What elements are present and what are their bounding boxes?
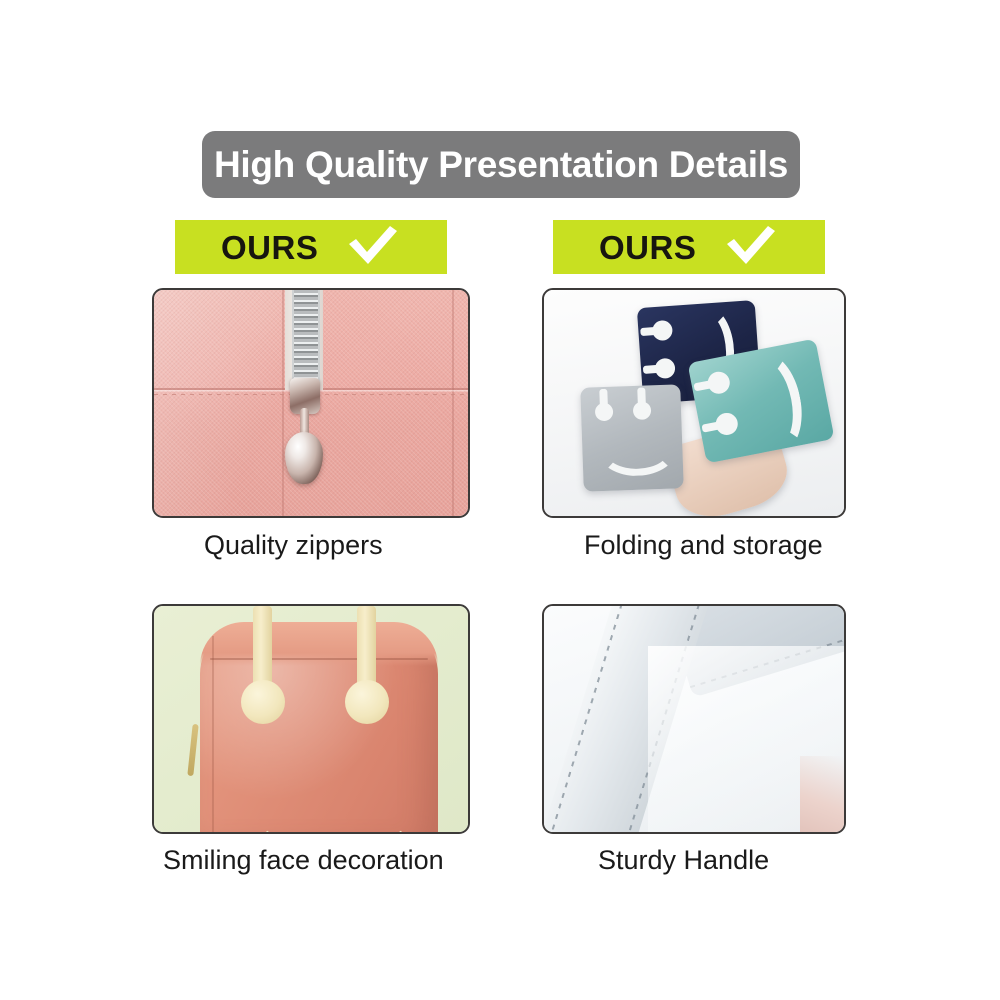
infographic-page: High Quality Presentation Details OURS O… (0, 0, 1000, 1000)
check-icon (724, 224, 778, 271)
caption-sturdy-handle: Sturdy Handle (598, 847, 769, 874)
ours-badge-left-label: OURS (221, 231, 318, 264)
feature-photo-sturdy-handle (542, 604, 846, 834)
caption-smiling-face: Smiling face decoration (163, 847, 444, 874)
check-icon (346, 224, 400, 271)
page-title: High Quality Presentation Details (214, 146, 788, 183)
folded-bag-gray (580, 384, 684, 491)
smiley-eye (345, 680, 389, 724)
ours-badge-left: OURS (175, 220, 447, 274)
feature-photo-folding-storage (542, 288, 846, 518)
ours-badge-right-label: OURS (599, 231, 696, 264)
zipper-teeth (292, 290, 320, 388)
caption-quality-zippers: Quality zippers (204, 532, 383, 559)
folded-bags-image (544, 290, 844, 516)
feature-photo-quality-zippers (152, 288, 470, 518)
ours-badge-right: OURS (553, 220, 825, 274)
pink-bag-zipper-image (154, 290, 468, 516)
feature-photo-smiling-face (152, 604, 470, 834)
handle-closeup-image (544, 606, 844, 832)
smiley-bag-image (154, 606, 468, 832)
smiley-eye (241, 680, 285, 724)
page-title-banner: High Quality Presentation Details (202, 131, 800, 198)
caption-folding-storage: Folding and storage (584, 532, 823, 559)
